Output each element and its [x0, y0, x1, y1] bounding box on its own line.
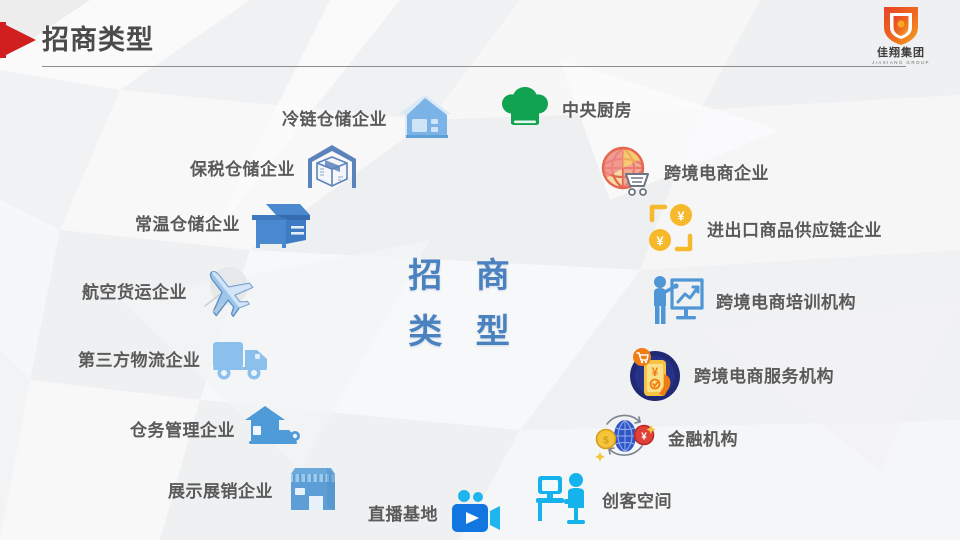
page-title: 招商类型	[42, 22, 154, 58]
title-divider	[42, 66, 906, 67]
globe-cart-icon	[598, 144, 654, 198]
item-label: 金融机构	[668, 425, 738, 450]
item-label: 跨境电商服务机构	[694, 362, 834, 387]
svg-text:¥: ¥	[677, 209, 685, 224]
warehouse-icon	[250, 196, 312, 248]
item-label: 第三方物流企业	[78, 346, 201, 371]
item-livestream-base[interactable]: 直播基地	[368, 488, 502, 536]
slide-root: 招商类型 佳翔集团 JIAXIANG GROUP 招 商	[0, 0, 960, 540]
item-cold-chain-warehouse[interactable]: 冷链仓储企业	[282, 92, 453, 142]
item-third-party-logistics[interactable]: 第三方物流企业	[78, 334, 271, 382]
item-ecommerce-training[interactable]: 跨境电商培训机构	[650, 274, 856, 326]
item-financial-institution[interactable]: $ ¥ 金融机构	[592, 408, 738, 466]
item-bonded-warehouse[interactable]: 保税仓储企业	[190, 142, 359, 192]
delivery-truck-icon	[211, 334, 271, 382]
center-heading-line2: 类 型	[384, 304, 534, 360]
item-label: 中央厨房	[562, 96, 632, 121]
yen-coins-exchange-icon: ¥ ¥	[645, 202, 697, 254]
item-cross-border-ecommerce[interactable]: 跨境电商企业	[598, 144, 769, 198]
presentation-trainer-icon	[650, 274, 706, 326]
svg-text:$: $	[603, 436, 609, 447]
item-ambient-warehouse[interactable]: 常温仓储企业	[135, 196, 312, 248]
item-label: 冷链仓储企业	[282, 105, 387, 130]
bonded-warehouse-box-icon	[305, 142, 359, 192]
svg-text:¥: ¥	[652, 365, 659, 379]
item-maker-space[interactable]: 创客空间	[534, 470, 672, 528]
mobile-payment-icon: ¥	[622, 344, 684, 404]
house-icon	[397, 92, 453, 142]
item-label: 跨境电商企业	[664, 159, 769, 184]
red-triangle-icon	[0, 22, 36, 58]
center-heading-line1: 招 商	[384, 248, 534, 304]
item-label: 展示展销企业	[168, 477, 273, 502]
item-label: 常温仓储企业	[135, 210, 240, 235]
svg-text:¥: ¥	[656, 234, 664, 249]
currency-exchange-icon: $ ¥	[592, 408, 658, 466]
item-label: 跨境电商培训机构	[716, 288, 856, 313]
item-ecommerce-service[interactable]: ¥ 跨境电商服务机构	[622, 344, 834, 404]
item-label: 航空货运企业	[82, 278, 187, 303]
video-camera-icon	[448, 488, 502, 536]
item-exhibition-sales[interactable]: 展示展销企业	[168, 464, 339, 514]
item-label: 直播基地	[368, 500, 438, 525]
center-heading: 招 商 类 型	[384, 248, 534, 360]
svg-text:¥: ¥	[641, 432, 647, 443]
company-logo: 佳翔集团 JIAXIANG GROUP	[858, 4, 944, 66]
logo-name-cn: 佳翔集团	[858, 47, 944, 59]
item-label: 保税仓储企业	[190, 155, 295, 180]
chef-hat-icon	[498, 84, 552, 132]
slide-header: 招商类型 佳翔集团 JIAXIANG GROUP	[0, 0, 960, 76]
airplane-icon	[197, 262, 259, 318]
warehouse-truck-icon	[245, 404, 303, 452]
item-label: 仓务管理企业	[130, 416, 235, 441]
item-label: 进出口商品供应链企业	[707, 216, 882, 241]
item-warehouse-management[interactable]: 仓务管理企业	[130, 404, 303, 452]
item-central-kitchen[interactable]: 中央厨房	[498, 84, 632, 132]
shield-logo-icon	[881, 4, 921, 46]
storefront-icon	[283, 464, 339, 514]
item-air-cargo[interactable]: 航空货运企业	[82, 262, 259, 318]
desk-person-icon	[534, 470, 592, 528]
logo-name-en: JIAXIANG GROUP	[858, 59, 944, 66]
item-label: 创客空间	[602, 487, 672, 512]
item-import-export-supply-chain[interactable]: ¥ ¥ 进出口商品供应链企业	[645, 202, 882, 254]
